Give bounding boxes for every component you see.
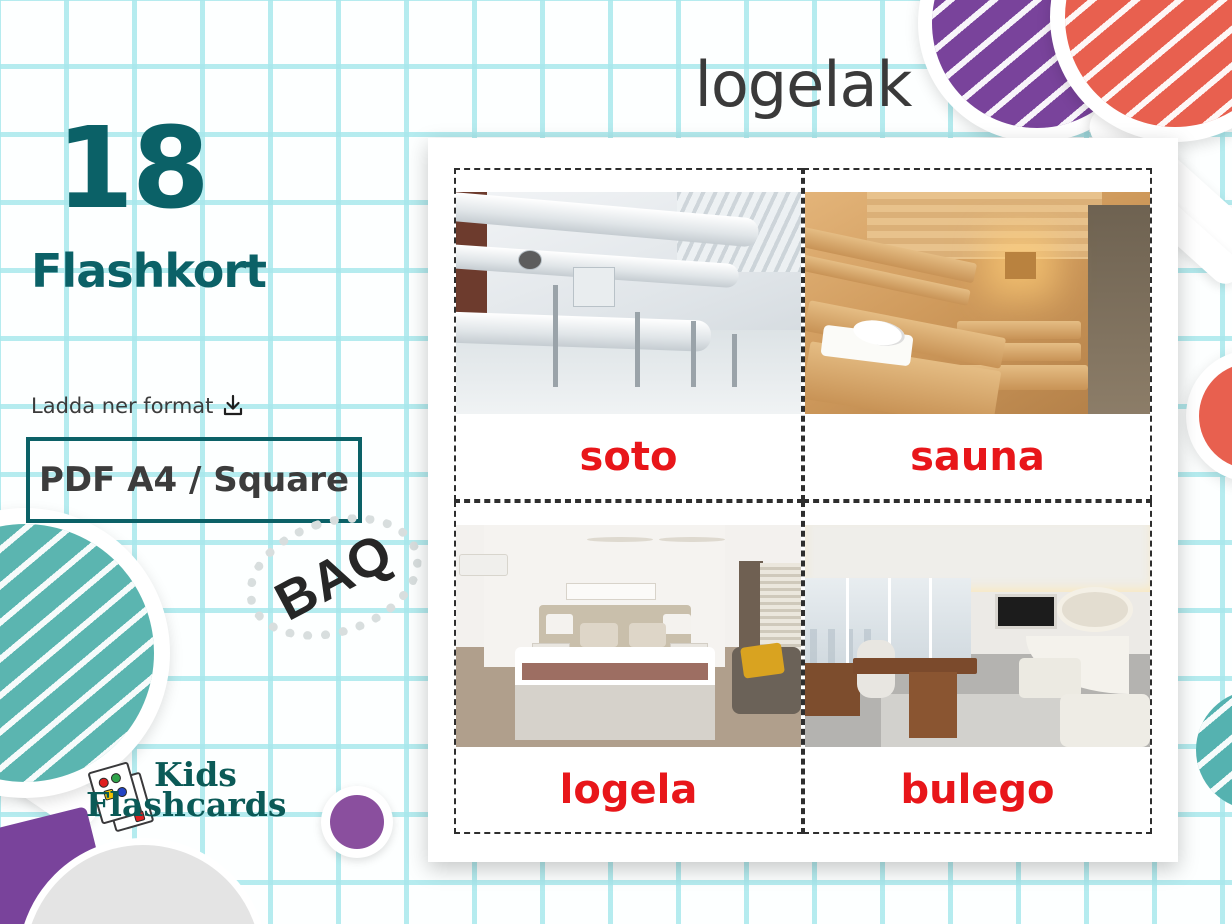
brand-line-2: Flashcards <box>86 790 286 820</box>
language-badge: BAQ <box>240 512 428 642</box>
flashcard-word-sauna: sauna <box>805 414 1150 499</box>
flashcard-soto[interactable]: soto <box>454 168 803 501</box>
download-format-row: Ladda ner format <box>31 394 244 418</box>
gray-circle-decoration <box>18 838 268 924</box>
flashcard-image-sauna <box>805 192 1150 414</box>
flashcard-count-label: Flashkort <box>31 244 266 298</box>
flashcard-image-logela <box>456 525 801 747</box>
flashcard-count: 18 <box>56 118 208 221</box>
flashcard-sauna[interactable]: sauna <box>803 168 1152 501</box>
flashcard-grid: soto <box>454 168 1152 834</box>
download-format-label: Ladda ner format <box>31 394 213 418</box>
flashcards-page: 18 Flashkort Ladda ner format PDF A4 / S… <box>0 0 1232 924</box>
brand-wordmark: Kids Flashcards <box>148 760 286 821</box>
page-title: logelak <box>428 48 1178 121</box>
flashcard-sheet: soto <box>428 138 1178 862</box>
right-coral-dot-decoration <box>1186 350 1232 482</box>
pdf-format-button[interactable]: PDF A4 / Square <box>26 437 362 523</box>
flashcard-image-bulego <box>805 525 1150 747</box>
right-teal-blob-decoration <box>1196 690 1232 810</box>
flashcard-word-bulego: bulego <box>805 747 1150 832</box>
flashcard-word-soto: soto <box>456 414 801 499</box>
teal-lollipop-decoration <box>0 508 170 798</box>
flashcard-word-logela: logela <box>456 747 801 832</box>
flashcard-bulego[interactable]: bulego <box>803 501 1152 834</box>
pdf-format-button-label: PDF A4 / Square <box>39 460 349 500</box>
brand-logo[interactable]: Kids Flashcards <box>74 762 374 842</box>
download-icon[interactable] <box>222 394 244 418</box>
flashcard-logela[interactable]: logela <box>454 501 803 834</box>
flashcard-image-soto <box>456 192 801 414</box>
